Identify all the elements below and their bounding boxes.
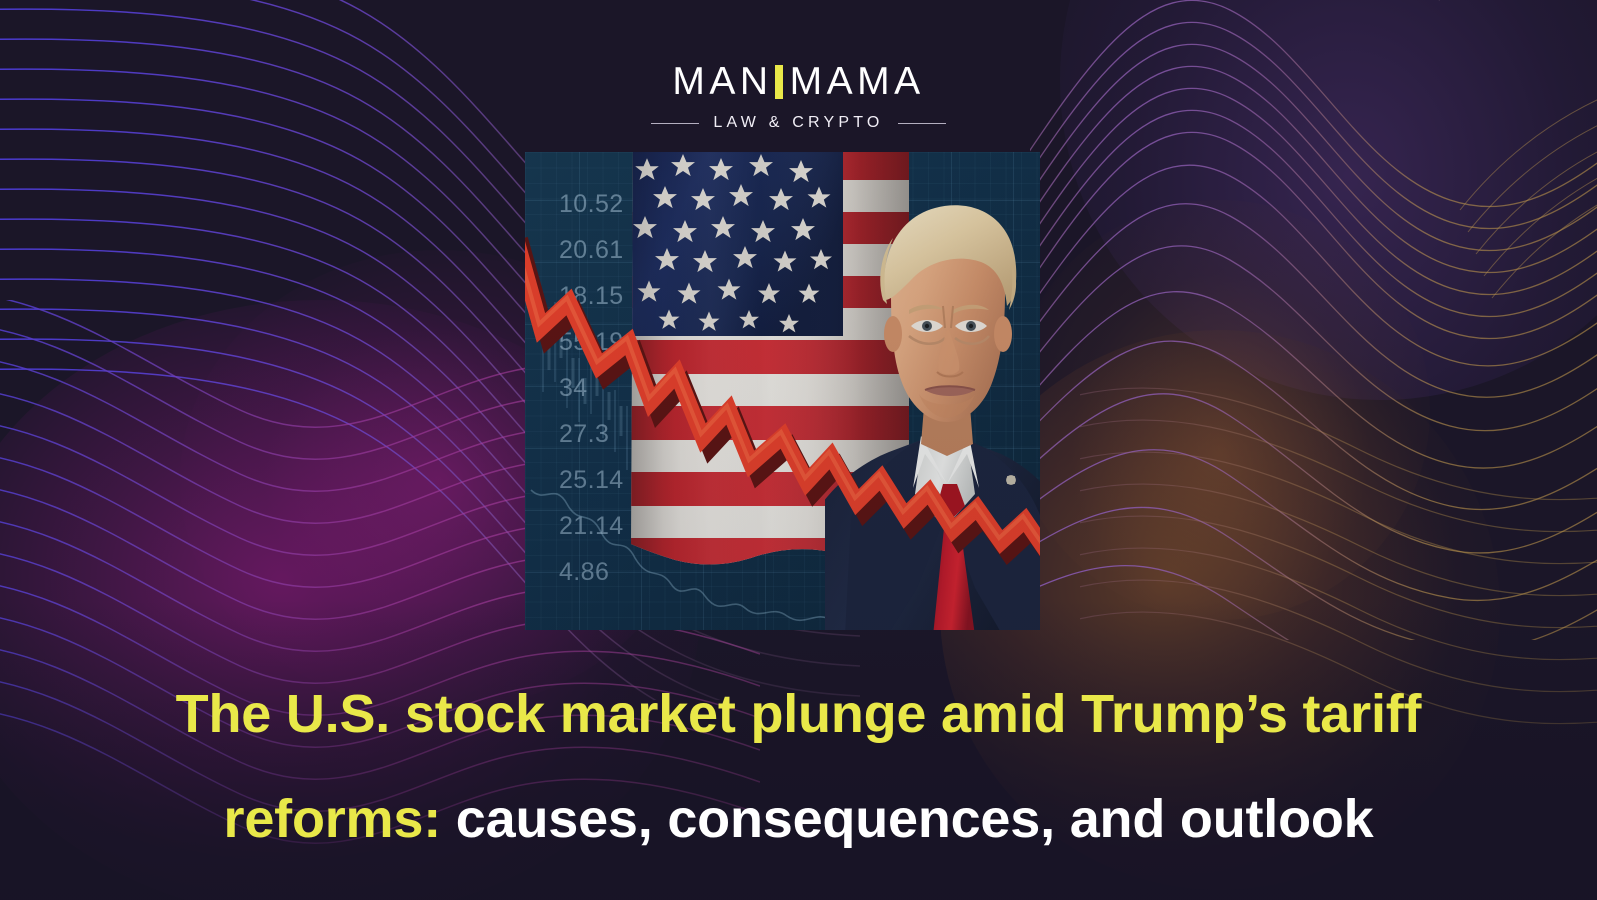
- title-line-2: reforms: causes, consequences, and outlo…: [0, 767, 1597, 872]
- rule-left-icon: [651, 123, 699, 124]
- declining-trend-line-icon: [525, 152, 1040, 630]
- brand-logo: MAN MAMA LAW & CRYPTO: [0, 62, 1597, 132]
- logo-tagline-row: LAW & CRYPTO: [651, 114, 945, 132]
- title-line-1-text: The U.S. stock market plunge amid Trump’…: [176, 684, 1422, 744]
- yellow-bar-divider-icon: [775, 65, 783, 99]
- title-line-2-highlight: reforms:: [224, 789, 441, 849]
- hero-image: 10.52 20.61 18.15 55.19 34 27.3 25.14 21…: [525, 152, 1040, 630]
- title-line-1: The U.S. stock market plunge amid Trump’…: [0, 662, 1597, 767]
- logo-text-part2: MAMA: [790, 62, 925, 101]
- article-cover-banner: MAN MAMA LAW & CRYPTO 10.52 20.61 18.15 …: [0, 0, 1597, 900]
- page-title: The U.S. stock market plunge amid Trump’…: [0, 662, 1597, 872]
- logo-wordmark: MAN MAMA: [672, 62, 924, 101]
- title-line-2-rest: causes, consequences, and outlook: [456, 789, 1374, 849]
- logo-tagline: LAW & CRYPTO: [713, 114, 883, 132]
- rule-right-icon: [898, 123, 946, 124]
- logo-text-part1: MAN: [672, 62, 772, 101]
